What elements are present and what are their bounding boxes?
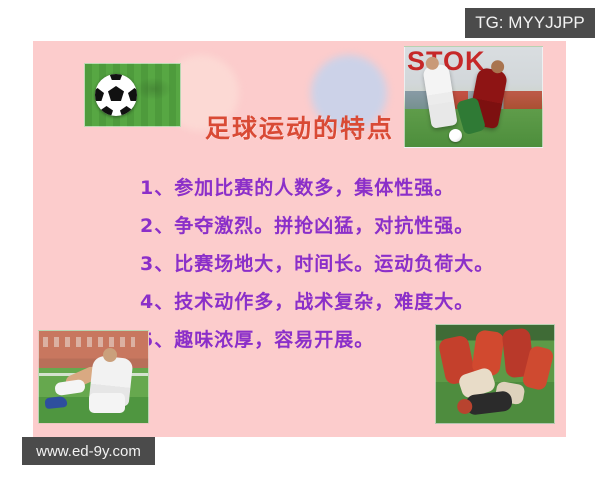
- list-item: 2、争夺激烈。拼抢凶猛，对抗性强。: [140, 207, 494, 245]
- list-item: 1、参加比赛的人数多，集体性强。: [140, 169, 494, 207]
- list-item: 3、比赛场地大，时间长。运动负荷大。: [140, 245, 494, 283]
- player-on-ground: [465, 390, 513, 415]
- player-shorts: [89, 393, 125, 413]
- player-head: [103, 348, 117, 362]
- player-boot: [44, 396, 67, 409]
- telegram-watermark: TG: MYYJJPP: [465, 8, 595, 38]
- list-item: 4、技术动作多，战术复杂，难度大。: [140, 283, 494, 321]
- presentation-slide: STOK 足球运动的特点 1、参加比赛的人数多，集体性强。 2、争夺激烈。拼抢凶…: [33, 41, 566, 437]
- injured-player-sitting-photo: [38, 330, 149, 424]
- perimeter-board: [43, 337, 135, 347]
- players-pile-tackle-photo: [435, 324, 555, 424]
- page-title: 足球运动的特点: [33, 109, 566, 145]
- site-watermark: www.ed-9y.com: [22, 437, 155, 465]
- player-sock: [54, 379, 86, 396]
